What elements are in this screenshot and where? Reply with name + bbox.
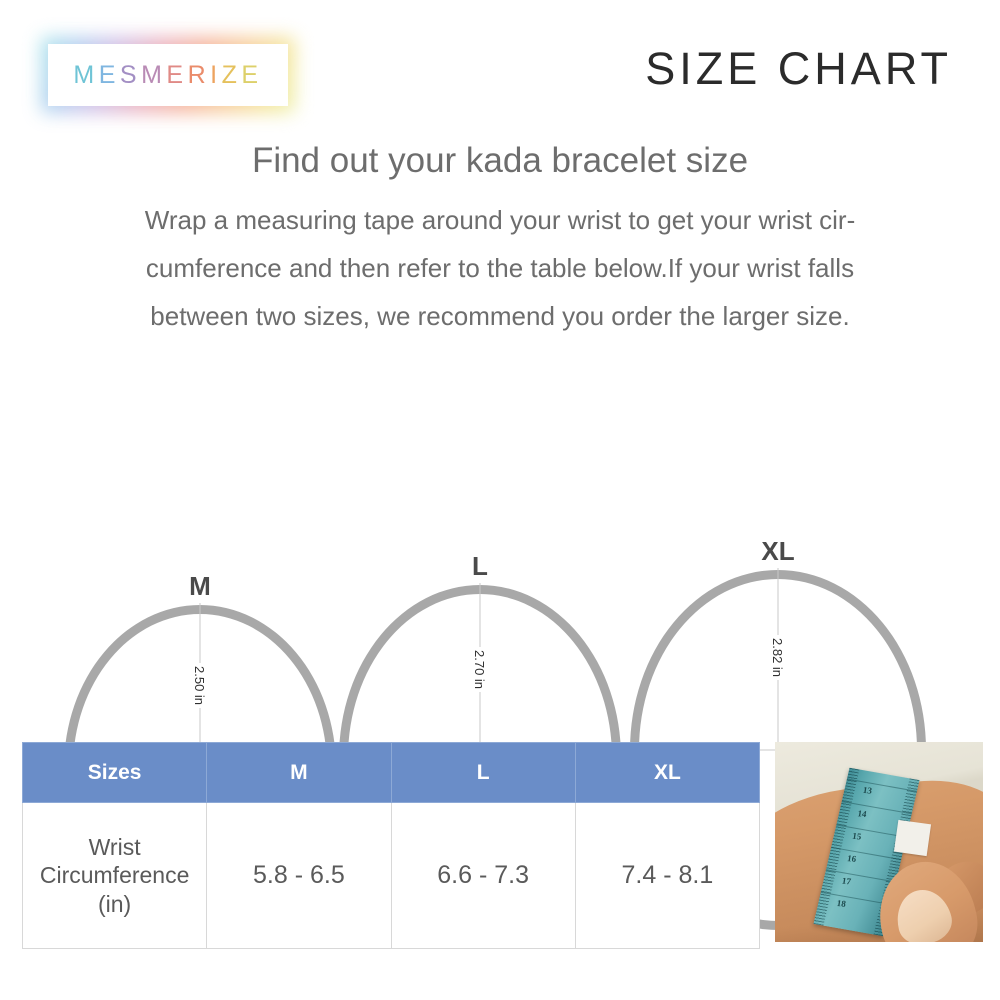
tape-mark-16: 16 [847,853,858,864]
oval-height-dimension-xl: 2.82 in [770,635,785,680]
logo-letter-1: E [99,61,120,90]
logo-letter-8: E [241,61,262,90]
tape-tick-13 [847,779,917,792]
table-head: Sizes M L XL [23,743,760,803]
table-row: Wrist Circumference (in) 5.8 - 6.5 6.6 -… [23,803,760,949]
oval-size-label-xl: XL [761,536,794,567]
column-header-l: L [391,743,575,803]
oval-height-dimension-l: 2.70 in [472,647,487,692]
page-title: SIZE CHART [645,43,952,95]
logo-letter-2: S [120,61,141,90]
logo-letter-0: M [73,61,98,90]
tape-mark-17: 17 [842,876,853,887]
intro-line-3: between two sizes, we recommend you orde… [50,292,950,340]
tape-tick-14 [842,801,912,814]
intro-line-1: Wrap a measuring tape around your wrist … [50,196,950,244]
intro-heading: Find out your kada bracelet size [50,140,950,182]
tape-marker-tag [894,820,931,856]
column-header-m: M [207,743,391,803]
brand-logo: MESMERIZE [48,44,288,106]
wrist-measuring-photo: 131415161718 [775,742,983,942]
logo-letter-6: I [210,61,221,90]
logo-letter-3: M [141,61,166,90]
cell-wrist-m: 5.8 - 6.5 [207,803,391,949]
logo-wordmark: MESMERIZE [73,61,262,90]
tape-tick-16 [831,847,901,860]
cell-wrist-l: 6.6 - 7.3 [391,803,575,949]
thumbnail [891,884,956,942]
cell-wrist-xl: 7.4 - 8.1 [575,803,759,949]
tape-mark-15: 15 [852,831,863,842]
tape-tick-17 [826,869,896,882]
column-header-xl: XL [575,743,759,803]
tape-mark-18: 18 [836,898,847,909]
tape-mark-13: 13 [863,785,874,796]
intro-block: Find out your kada bracelet size Wrap a … [50,140,950,340]
column-header-sizes: Sizes [23,743,207,803]
row-header-line-1: Wrist [24,833,205,861]
oval-size-label-l: L [472,551,488,582]
logo-letter-4: E [166,61,187,90]
table-body: Wrist Circumference (in) 5.8 - 6.5 6.6 -… [23,803,760,949]
table-header-row: Sizes M L XL [23,743,760,803]
intro-line-2: cumference and then refer to the table b… [50,244,950,292]
size-table: Sizes M L XL Wrist Circumference (in) 5.… [22,742,760,949]
tape-mark-14: 14 [857,808,868,819]
size-chart-page: MESMERIZE SIZE CHART Find out your kada … [0,0,1000,1000]
logo-letter-5: R [188,61,211,90]
logo-letter-7: Z [222,61,242,90]
row-header-line-2: Circumference [24,861,205,889]
logo-box: MESMERIZE [48,44,288,106]
row-header-line-3: (in) [24,890,205,918]
oval-diagram: M2.50 in2.10 inL2.70 in2.27 inXL2.82 in2… [0,350,1000,740]
oval-height-dimension-m: 2.50 in [192,663,207,708]
oval-size-label-m: M [189,571,211,602]
row-header-wrist-circumference: Wrist Circumference (in) [23,803,207,949]
